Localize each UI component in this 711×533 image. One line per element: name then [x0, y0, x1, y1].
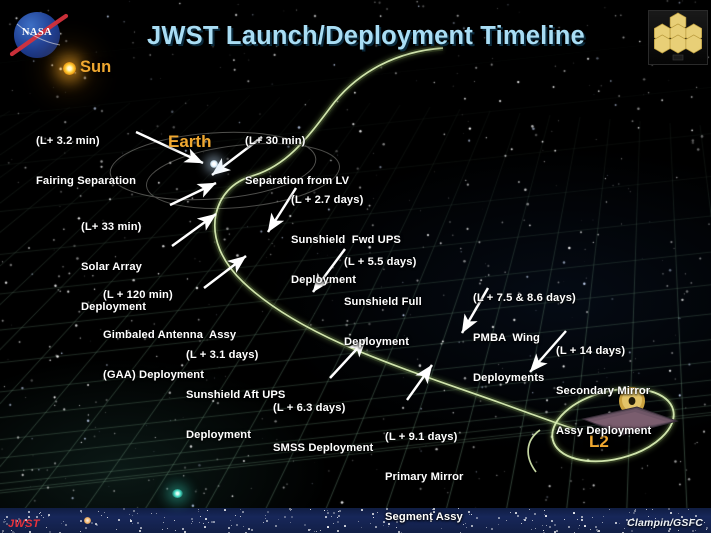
callout-time: (L + 7.5 & 8.6 days) — [473, 292, 576, 305]
callout-primary-mirror: (L + 9.1 days) Primary Mirror Segment As… — [385, 404, 464, 533]
earth-label: Earth — [168, 132, 211, 152]
callout-time: (L + 5.5 days) — [344, 256, 422, 269]
callout-time: (L + 3.1 days) — [186, 349, 286, 362]
page-title: JWST Launch/Deployment Timeline — [147, 22, 585, 51]
callout-time: (L + 14 days) — [556, 345, 651, 358]
jwst-mirror-logo — [648, 10, 708, 65]
callout-line: Fairing Separation — [36, 175, 136, 188]
callout-line: Deployment — [186, 429, 286, 442]
callout-line: SMSS Deployment — [273, 442, 373, 455]
earth-marker — [210, 160, 218, 168]
arrow-solar-array — [170, 183, 216, 205]
callout-time: (L+ 33 min) — [81, 221, 146, 234]
callout-line: Sunshield Full — [344, 296, 422, 309]
callout-time: (L + 2.7 days) — [291, 194, 401, 207]
callout-time: (L + 9.1 days) — [385, 431, 464, 444]
footer-starfield-band — [0, 508, 711, 533]
slide-canvas: JWST Launch/Deployment Timeline NASA Sun… — [0, 0, 711, 533]
callout-line: Deployment — [344, 336, 422, 349]
callout-line: Secondary Mirror — [556, 385, 651, 398]
callout-sunshield-full: (L + 5.5 days) Sunshield Full Deployment — [344, 229, 422, 376]
arrow-gimbaled-antenna — [172, 214, 216, 246]
callout-smss: (L + 6.3 days) SMSS Deployment — [273, 375, 373, 482]
jwst-logo-hexagons — [649, 11, 707, 64]
comet-object — [172, 489, 183, 498]
callout-line: Segment Assy — [385, 511, 464, 524]
footer-jwst-mark: JWST — [8, 518, 40, 530]
callout-line: Sunshield Aft UPS — [186, 389, 286, 402]
callout-line: Assy Deployment — [556, 425, 651, 438]
callout-time: (L + 6.3 days) — [273, 402, 373, 415]
callout-time: (L+ 30 min) — [245, 135, 349, 148]
sun-marker — [63, 62, 76, 75]
callout-secondary-mirror: (L + 14 days) Secondary Mirror Assy Depl… — [556, 318, 651, 465]
callout-sunshield-aft-ups: (L + 3.1 days) Sunshield Aft UPS Deploym… — [186, 322, 286, 469]
callout-line: Primary Mirror — [385, 471, 464, 484]
nasa-logo-text: NASA — [14, 27, 60, 38]
callout-time: (L+ 3.2 min) — [36, 135, 136, 148]
nasa-meatball-logo: NASA — [8, 10, 70, 60]
sun-label: Sun — [80, 58, 111, 77]
callout-time: (L + 120 min) — [103, 289, 236, 302]
footer-credit: Clampin/GSFC — [627, 517, 703, 529]
